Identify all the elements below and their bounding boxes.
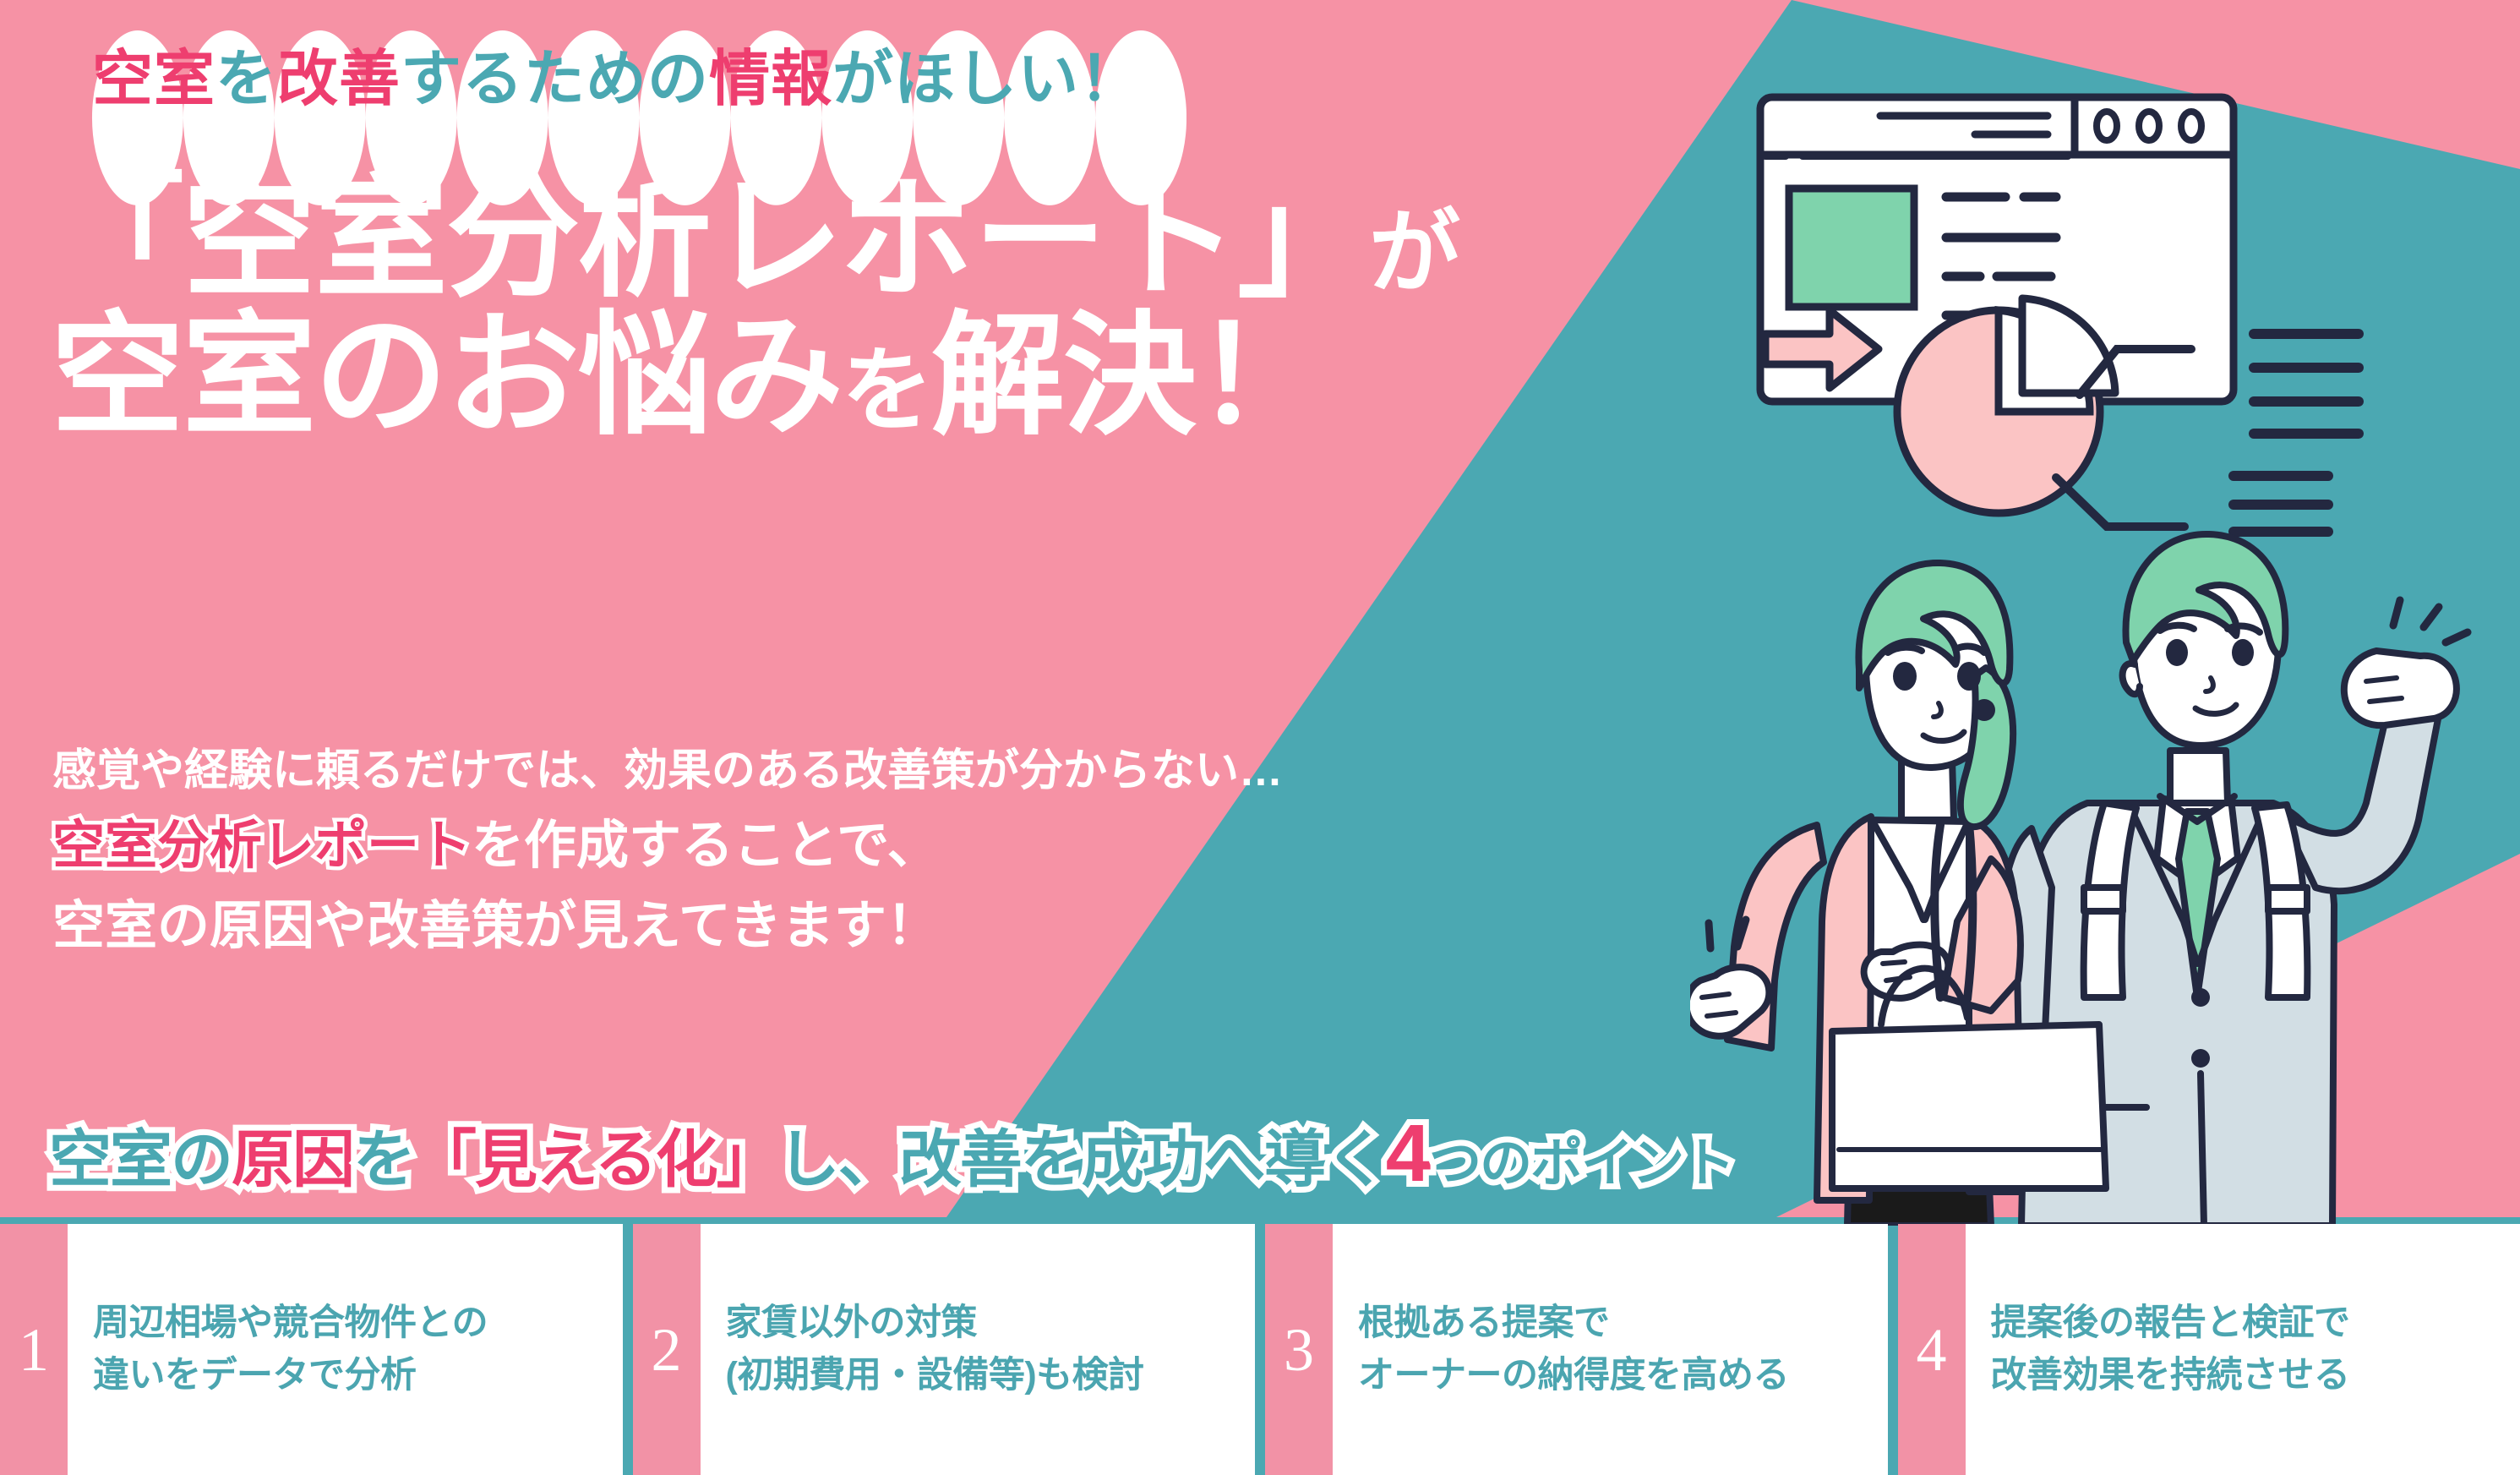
point-card-3-number: 3 xyxy=(1284,1319,1314,1380)
point-card-1-text: 周辺相場や競合物件との 違いをデータで分析 xyxy=(68,1224,623,1475)
point-card-3-line-2: オーナーの納得度を高める xyxy=(1358,1350,1876,1401)
point-card-4-number-strip: 4 xyxy=(1898,1224,1966,1475)
point-card-4-number: 4 xyxy=(1917,1319,1947,1380)
description-line-3: 空室の原因や改善策が見えてきます！ xyxy=(52,893,1283,961)
point-card-2-number-strip: 2 xyxy=(633,1224,701,1475)
point-card-3[interactable]: 3 根拠ある提案で オーナーの納得度を高める xyxy=(1265,1224,1888,1475)
banner-canvas: 空室を改善するための情報がほしい！ 「空室分析レポート」が 空室のお悩みを解決！… xyxy=(0,0,2520,1475)
point-card-1-line-2: 違いをデータで分析 xyxy=(93,1350,611,1401)
badge-seg-4: 情報 xyxy=(709,46,832,113)
description-line-2: 空室分析レポートを作成することで、 xyxy=(52,812,1283,881)
badge-seg-0: 空室 xyxy=(92,46,215,113)
browser-window-pie-chart-icon xyxy=(1754,80,2497,537)
people-illustration xyxy=(1690,524,2520,1230)
badge-seg-1: を xyxy=(215,46,277,113)
point-card-4-line-1: 提案後の報告と検証で xyxy=(1991,1297,2509,1349)
badge-seg-3: するための xyxy=(401,46,709,113)
point-card-1-number: 1 xyxy=(19,1319,49,1380)
description-block: 感覚や経験に頼るだけでは、効果のある改善策が分からない… 空室分析レポートを作成… xyxy=(52,744,1283,960)
point-card-3-text: 根拠ある提案で オーナーの納得度を高める xyxy=(1333,1224,1888,1475)
badge-seg-2: 改善 xyxy=(277,46,401,113)
tagline-seg-5: し、改善を成功へ導く xyxy=(777,1124,1386,1194)
points-card-row: 1 周辺相場や競合物件との 違いをデータで分析 2 家賃以外の対策 (初期費用・… xyxy=(0,1217,2520,1475)
headline-line1-suffix: が xyxy=(1369,201,1459,303)
tagline-seg-1: 空室の xyxy=(49,1124,232,1194)
tagline-seg-6: つのポイント xyxy=(1429,1134,1733,1193)
top-badge: 空室を改善するための情報がほしい！ xyxy=(46,30,1186,135)
point-card-1[interactable]: 1 周辺相場や競合物件との 違いをデータで分析 xyxy=(0,1224,623,1475)
headline-line-1: 「空室分析レポート」が xyxy=(51,173,1459,304)
tagline-number: 4 xyxy=(1386,1108,1429,1199)
point-card-1-line-1: 周辺相場や競合物件との xyxy=(93,1297,611,1349)
point-card-4-line-2: 改善効果を持続させる xyxy=(1991,1350,2509,1401)
card-divider-3 xyxy=(1888,1217,1898,1475)
badge-seg-5: がほしい！ xyxy=(832,46,1141,113)
point-card-1-number-strip: 1 xyxy=(0,1224,68,1475)
point-card-2-line-2: (初期費用・設備等)も検討 xyxy=(726,1350,1244,1401)
card-divider-2 xyxy=(1255,1217,1265,1475)
points-tagline: 空室の原因を「見える化」し、改善を成功へ導く4つのポイント xyxy=(49,1109,1733,1199)
headline-line2-main: 空室のお悩み xyxy=(51,302,842,451)
page-title: 「空室分析レポート」が 空室のお悩みを解決！ xyxy=(51,173,1459,442)
point-card-2-text: 家賃以外の対策 (初期費用・設備等)も検討 xyxy=(701,1224,1256,1475)
description-line-1: 感覚や経験に頼るだけでは、効果のある改善策が分からない… xyxy=(52,744,1283,799)
headline-line-2: 空室のお悩みを解決！ xyxy=(51,311,1459,442)
badge-label: 空室を改善するための情報がほしい！ xyxy=(92,49,1141,110)
headline-line2-mid: を xyxy=(842,339,931,441)
point-card-3-line-1: 根拠ある提案で xyxy=(1358,1297,1876,1349)
card-divider-1 xyxy=(623,1217,633,1475)
point-card-2-line-1: 家賃以外の対策 xyxy=(726,1297,1244,1349)
tagline-seg-3: を xyxy=(353,1124,414,1194)
headline-line1-main: 「空室分析レポート」 xyxy=(51,164,1369,313)
point-card-2-number: 2 xyxy=(652,1319,682,1380)
headline-line2-end: 解決！ xyxy=(931,302,1327,451)
two-business-people-cheering-icon xyxy=(1690,524,2520,1226)
point-card-3-number-strip: 3 xyxy=(1265,1224,1333,1475)
point-card-4-text: 提案後の報告と検証で 改善効果を持続させる xyxy=(1966,1224,2520,1475)
tagline-seg-4: 「見える化」 xyxy=(414,1124,777,1194)
description-highlight: 空室分析レポート xyxy=(52,817,472,875)
report-window-illustration xyxy=(1754,80,2497,541)
tagline-seg-2: 原因 xyxy=(232,1124,353,1194)
description-line2-rest: を作成することで、 xyxy=(472,817,940,875)
point-card-2[interactable]: 2 家賃以外の対策 (初期費用・設備等)も検討 xyxy=(633,1224,1256,1475)
point-card-4[interactable]: 4 提案後の報告と検証で 改善効果を持続させる xyxy=(1898,1224,2520,1475)
